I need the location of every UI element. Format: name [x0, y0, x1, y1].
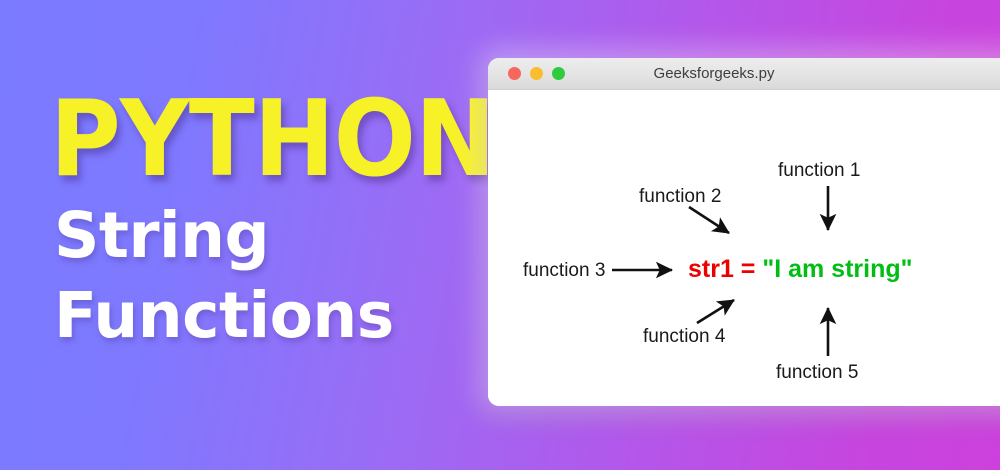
code-editor-window: Geeksforgeeks.py: [488, 58, 1000, 406]
subtitle-line-2: Functions: [54, 282, 470, 350]
label-function-3: function 3: [523, 260, 605, 282]
arrow-function-4: [697, 300, 734, 323]
diagram-canvas: function 1 function 2 function 3 functio…: [488, 90, 1000, 406]
subtitle-line-1: String: [54, 202, 470, 270]
python-string-functions-banner: PYTHON String Functions Geeksforgeeks.py: [0, 0, 1000, 470]
page-title: PYTHON: [50, 90, 436, 190]
code-string-literal: "I am string": [762, 255, 912, 283]
window-title: Geeksforgeeks.py: [488, 58, 940, 89]
label-function-5: function 5: [776, 362, 858, 384]
label-function-1: function 1: [778, 160, 860, 182]
label-function-2: function 2: [639, 186, 721, 208]
window-titlebar[interactable]: Geeksforgeeks.py: [488, 58, 1000, 90]
arrow-function-2: [689, 207, 729, 233]
annotation-arrows: [488, 90, 1000, 406]
code-variable: str1 =: [688, 255, 762, 283]
code-line: str1 = "I am string": [688, 255, 912, 284]
headline-block: PYTHON String Functions: [50, 90, 470, 350]
label-function-4: function 4: [643, 326, 725, 348]
